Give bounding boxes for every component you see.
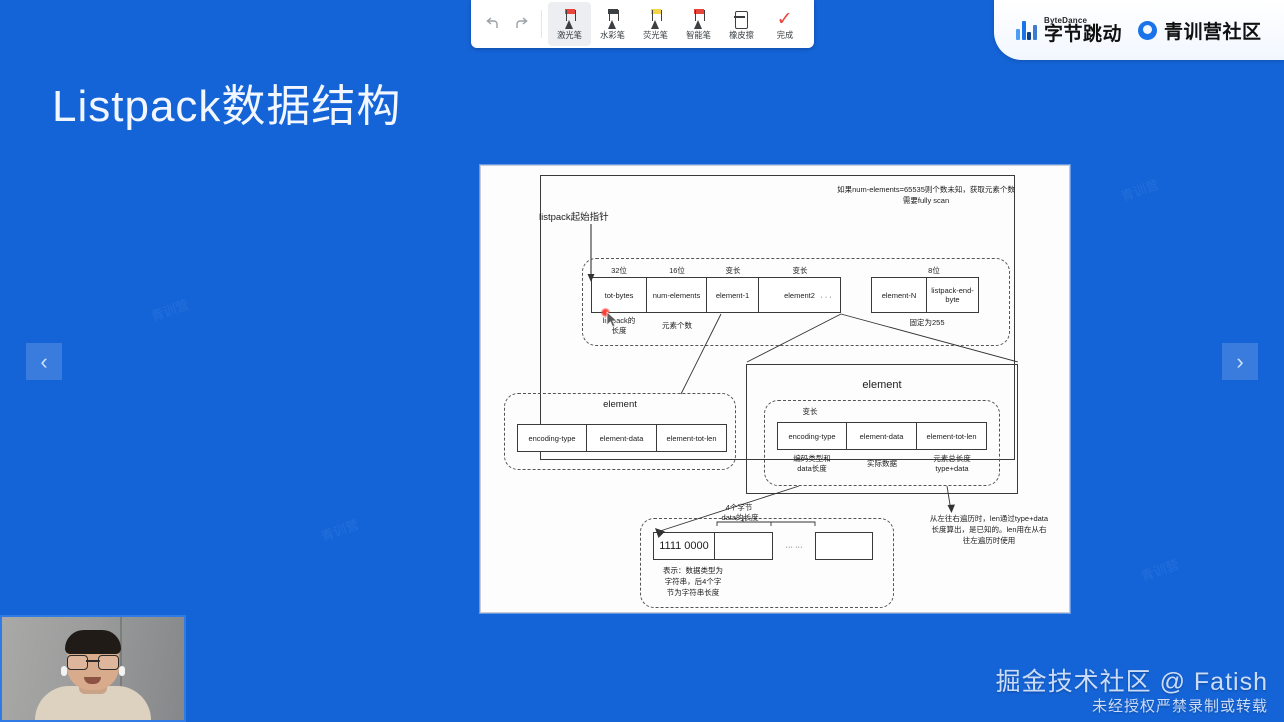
binary-caption-l1: 表示：数据类型为 (651, 566, 735, 576)
tool-label: 激光笔 (557, 30, 582, 40)
cell-element-data: element-data (847, 422, 917, 450)
tool-done[interactable]: ✓ 完成 (763, 2, 806, 46)
listpack-start-pointer-label: listpack起始指针 (539, 213, 609, 223)
bytedance-bars-icon (1016, 21, 1037, 40)
highlighter-pen-icon (649, 7, 662, 29)
presenter-figure (35, 646, 151, 720)
glasses-icon (67, 655, 119, 668)
brand-bar: ByteDance 字节跳动 青训营社区 (994, 0, 1284, 60)
prev-slide-button[interactable]: ‹ (26, 343, 62, 380)
cell-tot-bytes: tot-bytes (591, 277, 647, 313)
element-right-title: element (746, 380, 1018, 390)
element-right-cells: encoding-type element-data element-tot-l… (777, 422, 987, 450)
cell-element-1: element-1 (707, 277, 759, 313)
tool-highlighter-pen[interactable]: 荧光笔 (634, 2, 677, 46)
tool-label: 水彩笔 (600, 30, 625, 40)
cell-element-data: element-data (587, 424, 657, 452)
caption-encoding-type-l1: 编码类型和 (777, 454, 847, 464)
binary-caption-l3: 节为字符串长度 (651, 588, 735, 598)
next-slide-button[interactable]: › (1222, 343, 1258, 380)
qingxunying-circle-icon (1138, 21, 1157, 40)
redo-arrow-icon[interactable] (507, 7, 535, 41)
element-left-cells: encoding-type element-data element-tot-l… (517, 424, 727, 452)
chevron-right-icon: › (1236, 351, 1243, 373)
caption-encoding-type-l2: data长度 (777, 464, 847, 474)
undo-arrow-icon[interactable] (479, 7, 507, 41)
tool-label: 智能笔 (686, 30, 711, 40)
cell-binary-value: 1111 0000 (653, 532, 715, 560)
mouse-cursor-icon (606, 311, 620, 329)
community-logo: 青训营社区 (1138, 17, 1262, 44)
tool-label: 完成 (776, 30, 793, 40)
note-num-elements-unknown: 如果num-elements=65535则个数未知，获取元素个数需要fully … (836, 184, 1016, 206)
toolbar-divider (541, 10, 542, 38)
page-title: Listpack数据结构 (52, 70, 401, 134)
check-icon: ✓ (777, 7, 793, 29)
cell-element-tot-len: element-tot-len (917, 422, 987, 450)
watercolor-pen-icon (606, 7, 619, 29)
slide-ghost-watermark: 青训营 (148, 294, 191, 325)
bit-label-element-1: 变长 (707, 266, 759, 276)
caption-element-tot-len-l2: type+data (917, 464, 987, 474)
presenter-video-tile[interactable] (0, 615, 186, 722)
slide-ghost-watermark: 青训营 (1138, 554, 1181, 585)
caption-element-tot-len-l1: 元素总长度 (917, 454, 987, 464)
bytedance-logo: ByteDance 字节跳动 (1016, 17, 1122, 44)
label-right-varlen: 变长 (777, 407, 843, 417)
watermark-main: 掘金技术社区 @ Fatish (996, 667, 1268, 697)
listpack-tail-row: element-N listpack-end-byte (871, 277, 979, 313)
annotation-toolbar[interactable]: 激光笔 水彩笔 荧光笔 智能笔 橡皮擦 ✓ 完成 (471, 0, 814, 48)
tool-watercolor-pen[interactable]: 水彩笔 (591, 2, 634, 46)
binary-caption-l2: 字符串，后4个字 (651, 577, 735, 587)
label-4-bytes-l2: data的长度 (695, 513, 785, 523)
bit-label-end-byte: 8位 (871, 266, 997, 276)
tool-label: 荧光笔 (643, 30, 668, 40)
binary-row-ellipsis: ··· ··· (773, 542, 815, 552)
element-left-title: element (504, 400, 736, 410)
tool-smart-pen[interactable]: 智能笔 (677, 2, 720, 46)
watermark: 掘金技术社区 @ Fatish 未经授权严禁录制或转载 (996, 667, 1268, 716)
cell-element-tot-len: element-tot-len (657, 424, 727, 452)
bytedance-cn-label: 字节跳动 (1044, 25, 1122, 44)
eraser-icon (735, 7, 748, 29)
cell-data-byte-1 (715, 532, 773, 560)
slide-ghost-watermark: 青训营 (1118, 174, 1161, 205)
tool-eraser[interactable]: 橡皮擦 (720, 2, 763, 46)
laser-pen-icon (563, 7, 576, 29)
cell-encoding-type: encoding-type (517, 424, 587, 452)
slide-diagram-image: 如果num-elements=65535则个数未知，获取元素个数需要fully … (480, 165, 1070, 613)
cell-element-n: element-N (871, 277, 927, 313)
label-fixed-255: 固定为255 (871, 318, 983, 328)
smart-pen-icon (692, 7, 705, 29)
bit-label-element-2: 变长 (759, 266, 841, 276)
cell-listpack-end-byte: listpack-end-byte (927, 277, 979, 313)
bit-label-num-elements: 16位 (647, 266, 707, 276)
label-4-bytes-l1: 4个字节 (703, 503, 775, 513)
cell-encoding-type: encoding-type (777, 422, 847, 450)
community-label: 青训营社区 (1164, 17, 1262, 44)
chevron-left-icon: ‹ (40, 351, 47, 373)
caption-element-data-l1: 实际数据 (847, 459, 917, 469)
bit-label-tot-bytes: 32位 (591, 266, 647, 276)
cell-data-byte-n (815, 532, 873, 560)
note-traversal-l1: 从左往右遍历时，len通过type+data (909, 514, 1069, 524)
note-traversal-l3: 往左遍历时使用 (909, 536, 1069, 546)
slide-ghost-watermark: 青训营 (318, 514, 361, 545)
tool-laser-pen[interactable]: 激光笔 (548, 2, 591, 46)
cell-num-elements: num-elements (647, 277, 707, 313)
tool-label: 橡皮擦 (729, 30, 754, 40)
label-element-count: 元素个数 (647, 321, 707, 331)
watermark-sub: 未经授权严禁录制或转载 (996, 697, 1268, 716)
byte-row-ellipsis: ··· (785, 292, 869, 302)
note-traversal-l2: 长度算出，是已知的。len用在从右 (909, 525, 1069, 535)
